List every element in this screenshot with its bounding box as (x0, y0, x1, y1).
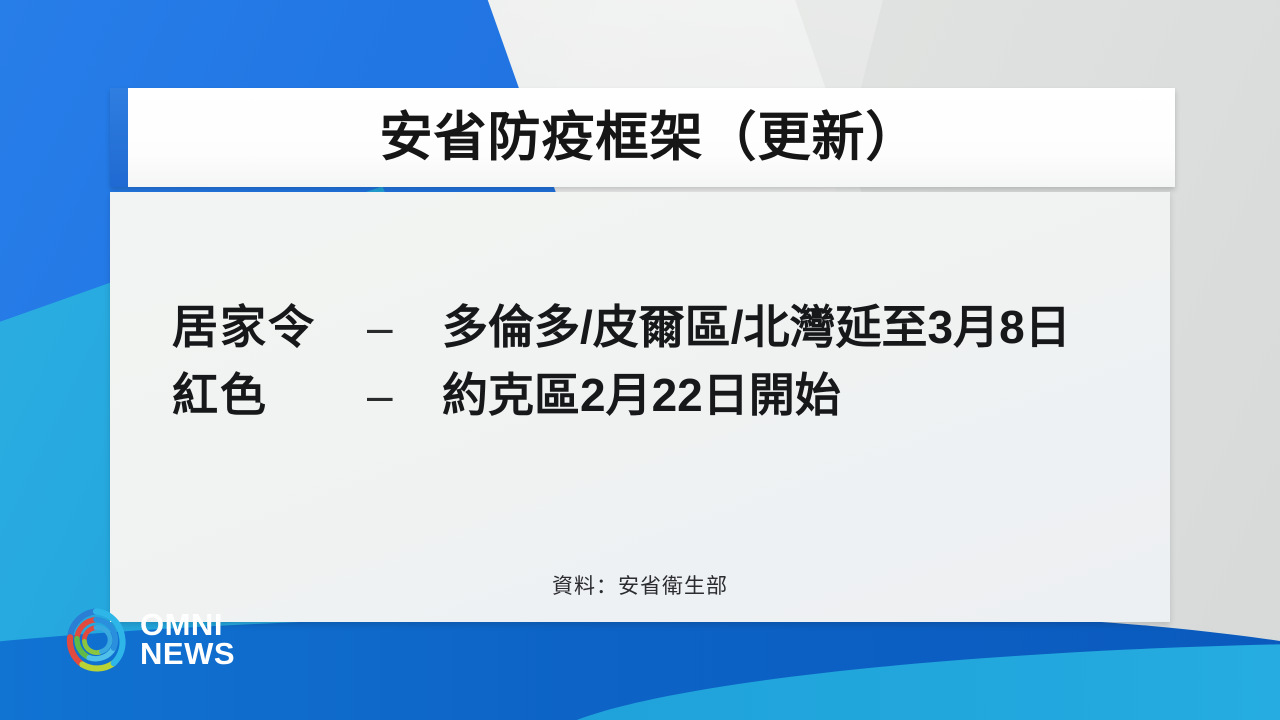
info-row-dash: – (367, 372, 442, 418)
title-accent-bar (110, 88, 128, 187)
source-attribution: 資料：安省衛生部 (110, 570, 1170, 600)
info-row: 居家令 – 多倫多/皮爾區/北灣延至3月8日 (172, 304, 1150, 350)
info-rows: 居家令 – 多倫多/皮爾區/北灣延至3月8日 紅色 – 約克區2月22日開始 (172, 304, 1150, 440)
omni-news-wordmark: OMNI NEWS (140, 611, 235, 668)
info-row-value: 多倫多/皮爾區/北灣延至3月8日 (442, 304, 1150, 350)
logo-line-news: NEWS (140, 640, 235, 669)
info-row-value: 約克區2月22日開始 (442, 372, 1150, 418)
page-title: 安省防疫框架（更新） (110, 111, 1175, 164)
info-row: 紅色 – 約克區2月22日開始 (172, 372, 1150, 418)
info-row-label: 居家令 (172, 304, 367, 350)
info-row-dash: – (367, 304, 442, 350)
omni-spiral-logo-icon (62, 606, 130, 674)
body-card: 居家令 – 多倫多/皮爾區/北灣延至3月8日 紅色 – 約克區2月22日開始 資… (110, 192, 1170, 622)
title-card: 安省防疫框架（更新） (110, 88, 1175, 187)
news-graphic-stage: 安省防疫框架（更新） 居家令 – 多倫多/皮爾區/北灣延至3月8日 紅色 – 約… (0, 0, 1280, 720)
info-row-label: 紅色 (172, 372, 367, 418)
omni-news-logo: OMNI NEWS (62, 606, 235, 674)
